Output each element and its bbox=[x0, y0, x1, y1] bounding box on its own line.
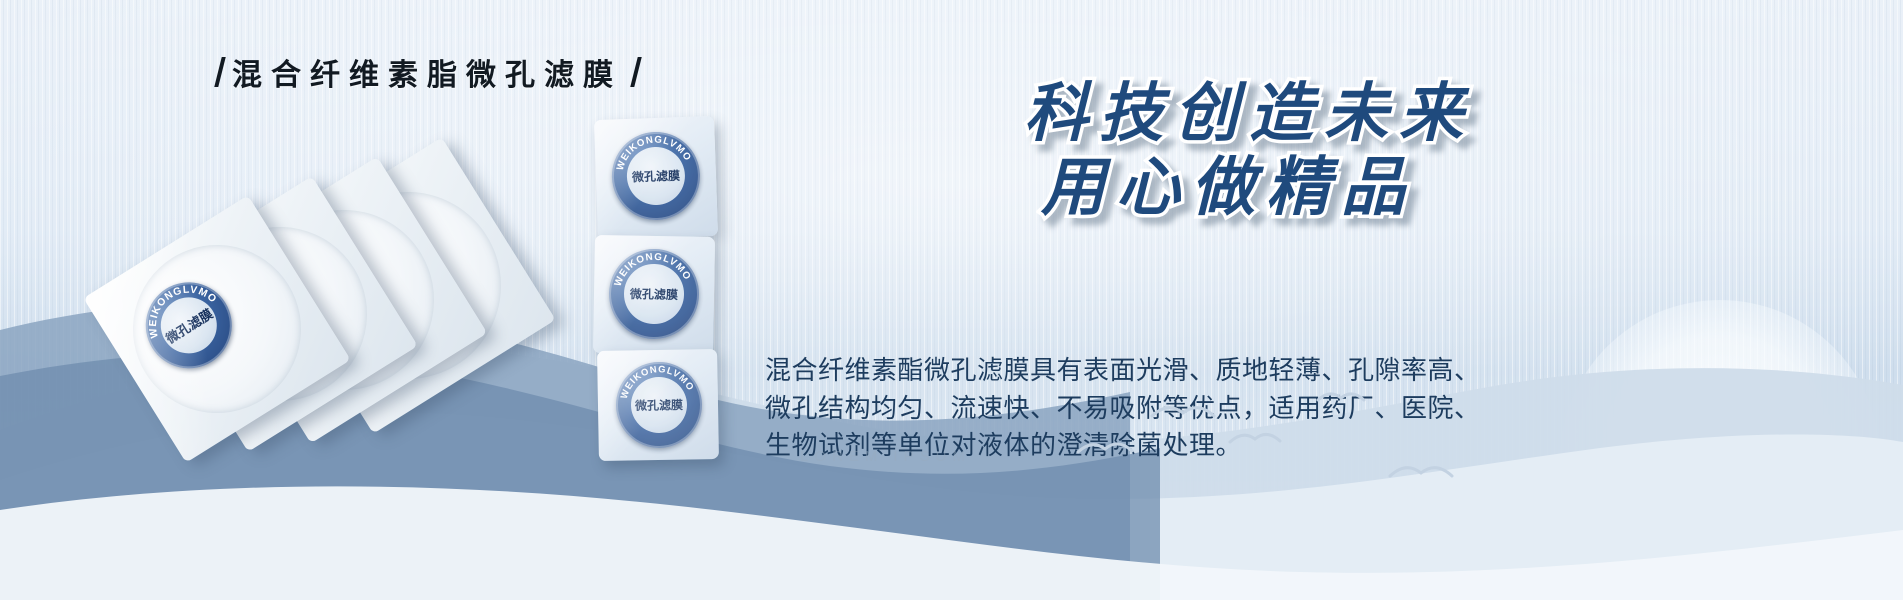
label-cn-text-col-2: 微孔滤膜 bbox=[609, 285, 699, 304]
watermark-text: LOREM IPSUM bbox=[800, 448, 971, 465]
label-inner-disc-1 bbox=[150, 286, 228, 364]
brand-label-col-2: WEIKONGLVMO 微孔滤膜 bbox=[608, 248, 700, 340]
brand-arc-text-col-2: WEIKONGLVMO bbox=[608, 248, 700, 340]
svg-text:WEIKONGLVMO: WEIKONGLVMO bbox=[133, 270, 220, 343]
label-inner-disc-col-2 bbox=[624, 264, 684, 324]
label-cn-text-1: 微孔滤膜 bbox=[147, 295, 230, 357]
headline-block: 科技创造未来 用心做精品 bbox=[760, 78, 1480, 223]
promo-banner: 混合纤维素脂微孔滤膜 科技创造未来 用心做精品 混合纤维素酯微孔滤膜具有表面光滑… bbox=[0, 0, 1903, 600]
section-title-text: 混合纤维素脂微孔滤膜 bbox=[232, 50, 622, 94]
brand-arc-text-col-1: WEIKONGLVMO bbox=[610, 130, 701, 221]
headline-line-1: 科技创造未来 bbox=[760, 78, 1480, 150]
birds-decoration bbox=[1060, 380, 1580, 510]
svg-text:WEIKONGLVMO: WEIKONGLVMO bbox=[618, 363, 696, 400]
column-packet-middle: WEIKONGLVMO 微孔滤膜 bbox=[593, 235, 715, 355]
headline-line-2: 用心做精品 bbox=[760, 152, 1480, 224]
label-cn-text-col-3: 微孔滤膜 bbox=[616, 396, 702, 414]
column-packet-bottom: WEIKONGLVMO 微孔滤膜 bbox=[597, 349, 719, 461]
brand-label-1: WEIKONGLVMO 微孔滤膜 bbox=[130, 266, 249, 385]
label-inner-disc-col-1 bbox=[626, 146, 686, 206]
brand-arc-text-1: WEIKONGLVMO bbox=[130, 266, 249, 385]
brand-label-col-3: WEIKONGLVMO 微孔滤膜 bbox=[615, 361, 702, 448]
svg-text:WEIKONGLVMO: WEIKONGLVMO bbox=[613, 251, 694, 289]
brand-label-col-1: WEIKONGLVMO 微孔滤膜 bbox=[610, 130, 701, 221]
svg-text:WEIKONGLVMO: WEIKONGLVMO bbox=[614, 133, 694, 172]
label-inner-disc-col-3 bbox=[630, 376, 688, 434]
column-packet-top: WEIKONGLVMO 微孔滤膜 bbox=[594, 116, 718, 240]
section-title: 混合纤维素脂微孔滤膜 bbox=[218, 50, 638, 94]
brand-arc-text-col-3: WEIKONGLVMO bbox=[615, 361, 702, 448]
label-cn-text-col-1: 微孔滤膜 bbox=[612, 166, 701, 186]
